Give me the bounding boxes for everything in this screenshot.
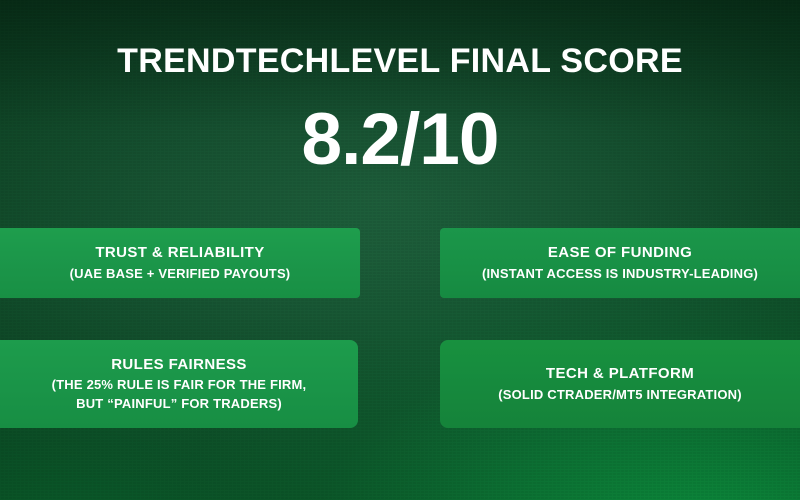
score-card-subtitle-line-1: (THE 25% RULE IS FAIR FOR THE FIRM, xyxy=(52,376,307,394)
score-card-title: TECH & PLATFORM xyxy=(546,364,694,384)
score-card-title: EASE OF FUNDING xyxy=(548,243,692,263)
score-card-subtitle: (UAE BASE + VERIFIED PAYOUTS) xyxy=(70,265,291,283)
score-card-subtitle: (INSTANT ACCESS IS INDUSTRY-LEADING) xyxy=(482,265,758,283)
final-score-infographic: TRENDTECHLEVEL FINAL SCORE 8.2/10 TRUST … xyxy=(0,0,800,500)
final-score-value: 8.2/10 xyxy=(0,103,800,176)
score-card-tech-platform: TECH & PLATFORM (SOLID CTRADER/MT5 INTEG… xyxy=(440,340,800,428)
page-title: TRENDTECHLEVEL FINAL SCORE xyxy=(0,44,800,78)
score-card-subtitle-line-2: BUT “PAINFUL” FOR TRADERS) xyxy=(76,395,282,413)
score-card-trust-reliability: TRUST & RELIABILITY (UAE BASE + VERIFIED… xyxy=(0,228,360,298)
score-card-ease-of-funding: EASE OF FUNDING (INSTANT ACCESS IS INDUS… xyxy=(440,228,800,298)
score-card-title: TRUST & RELIABILITY xyxy=(95,243,264,263)
content-layer: TRENDTECHLEVEL FINAL SCORE 8.2/10 TRUST … xyxy=(0,0,800,500)
score-card-rules-fairness: RULES FAIRNESS (THE 25% RULE IS FAIR FOR… xyxy=(0,340,358,428)
score-card-subtitle: (SOLID CTRADER/MT5 INTEGRATION) xyxy=(498,386,742,404)
score-card-title: RULES FAIRNESS xyxy=(111,355,247,375)
